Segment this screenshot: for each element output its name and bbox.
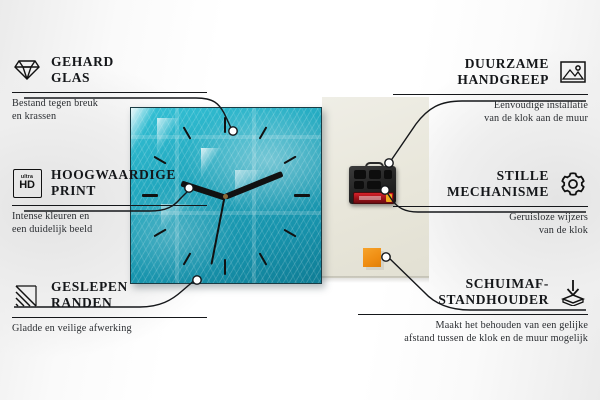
gear-icon	[558, 169, 588, 199]
feature-title: STILLE MECHANISME	[447, 168, 549, 199]
ultra-hd-icon-bottom-text: HD	[19, 180, 35, 191]
mechanism-slot	[367, 181, 381, 189]
feature-gehard-glas: GEHARD GLAS Bestand tegen breuk en krass…	[12, 50, 207, 123]
clock-face-gridline	[131, 135, 321, 139]
feature-geslepen-randen: GESLEPEN RANDEN Gladde en veilige afwerk…	[12, 275, 207, 335]
feature-title: GEHARD GLAS	[51, 54, 114, 85]
feature-rule	[12, 92, 207, 93]
infographic-canvas: GEHARD GLAS Bestand tegen breuk en krass…	[0, 0, 600, 400]
feature-description: Maakt het behouden van een gelijke afsta…	[358, 319, 588, 345]
mechanism-slot	[354, 170, 366, 179]
feature-duurzame-handgreep: DUURZAME HANDGREEP Eenvoudige installati…	[393, 52, 588, 125]
feature-description: Intense kleuren en een duidelijk beeld	[12, 210, 207, 236]
mechanism-slot	[354, 181, 364, 189]
spacer-arrow-icon	[558, 277, 588, 307]
feature-stille-mechanisme: STILLE MECHANISME Geruisloze wijzers van…	[393, 164, 588, 237]
feature-description: Bestand tegen breuk en krassen	[12, 97, 207, 123]
battery-label	[359, 196, 381, 200]
feature-title: DUURZAME HANDGREEP	[457, 56, 549, 87]
feature-rule	[12, 205, 207, 206]
battery	[353, 192, 394, 204]
picture-frame-icon	[558, 57, 588, 87]
clock-tick-6	[224, 259, 226, 275]
ultra-hd-icon: ultra HD	[12, 168, 42, 198]
feature-title: SCHUIMAF- STANDHOUDER	[438, 276, 549, 307]
battery-positive-terminal	[386, 194, 392, 202]
polished-edges-icon	[12, 280, 42, 310]
clock-center-cap	[223, 194, 228, 199]
mechanism-slot	[384, 170, 392, 179]
feature-rule	[393, 94, 588, 95]
feature-description: Eenvoudige installatie van de klok aan d…	[393, 99, 588, 125]
feature-rule	[12, 317, 207, 318]
feature-title: GESLEPEN RANDEN	[51, 279, 128, 310]
feature-schuimaf-standhouder: SCHUIMAF- STANDHOUDER Maakt het behouden…	[358, 272, 588, 345]
clock-tick-3	[294, 194, 310, 197]
foam-spacer-pad	[363, 248, 381, 267]
feature-rule	[393, 206, 588, 207]
feature-rule	[358, 314, 588, 315]
feature-title: HOOGWAARDIGE PRINT	[51, 167, 176, 198]
feature-description: Gladde en veilige afwerking	[12, 322, 207, 335]
feature-hoogwaardige-print: ultra HD HOOGWAARDIGE PRINT Intense kleu…	[12, 163, 207, 236]
mechanism-body	[349, 166, 396, 204]
feature-description: Geruisloze wijzers van de klok	[393, 211, 588, 237]
diamond-icon	[12, 55, 42, 85]
clock-tick-12	[224, 117, 226, 133]
clock-mechanism	[349, 162, 396, 204]
mechanism-slot	[369, 170, 381, 179]
